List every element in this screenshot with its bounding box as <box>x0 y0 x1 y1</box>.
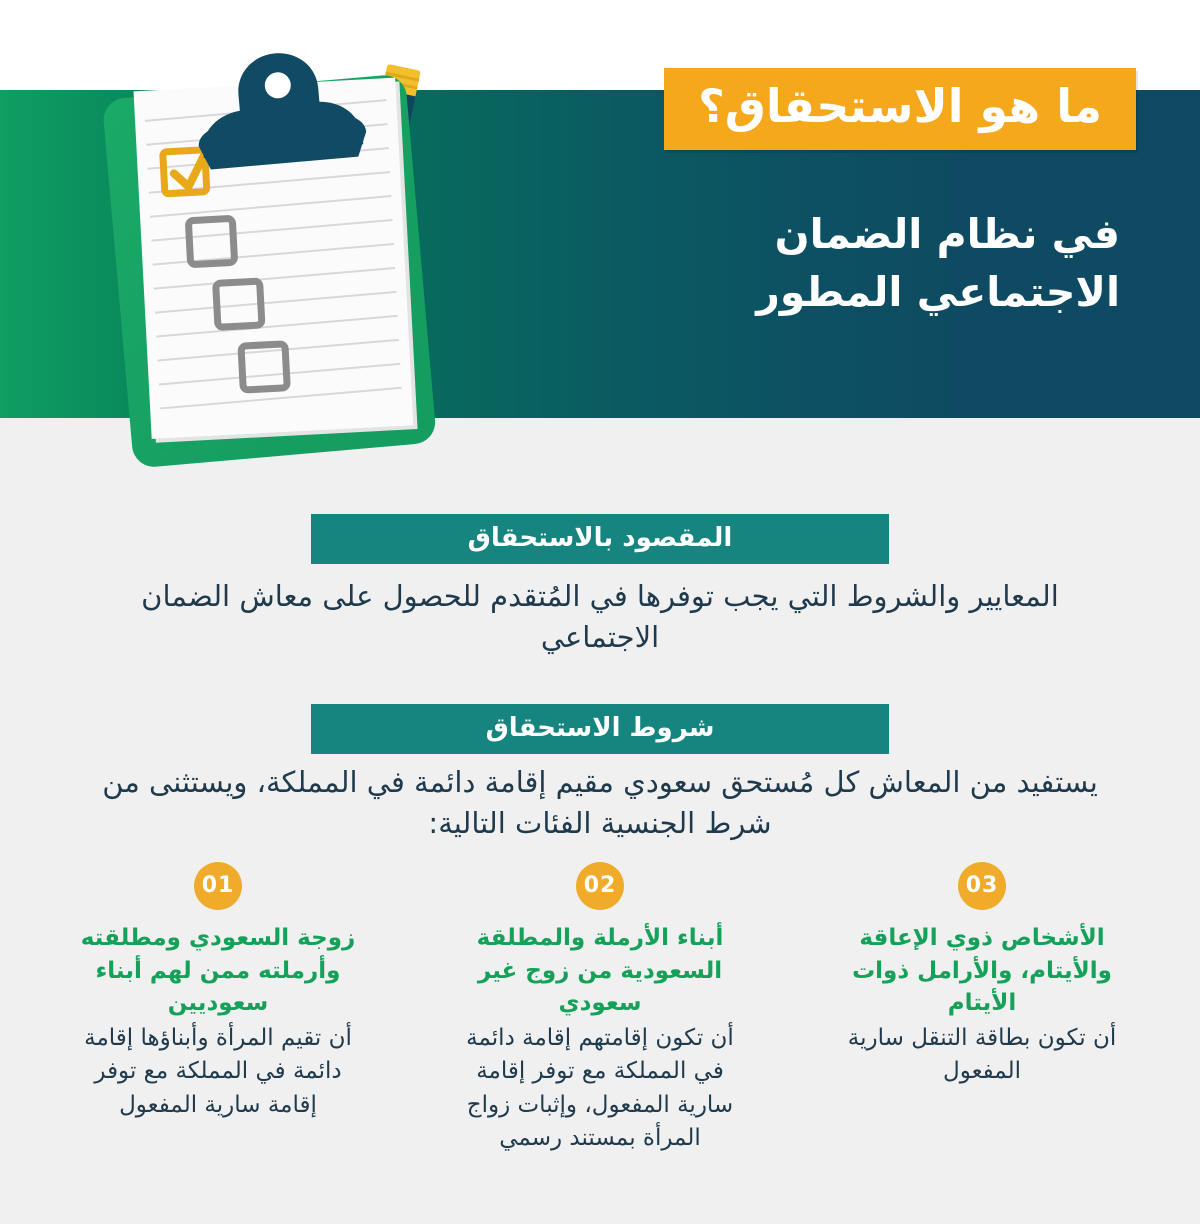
condition-number-badge: 03 <box>958 862 1006 910</box>
condition-body: أن تقيم المرأة وأبناؤها إقامة دائمة في ا… <box>70 1022 366 1122</box>
condition-number-badge: 02 <box>576 862 624 910</box>
section-heading-conditions: شروط الاستحقاق <box>311 704 889 754</box>
condition-column-01: 01 زوجة السعودي ومطلقته وأرملته ممن لهم … <box>70 862 366 1122</box>
condition-title: أبناء الأرملة والمطلقة السعودية من زوج غ… <box>452 922 748 1020</box>
condition-column-03: 03 الأشخاص ذوي الإعاقة والأيتام، والأرام… <box>834 862 1130 1089</box>
hero-subtitle: في نظام الضمان الاجتماعي المطور <box>590 205 1120 321</box>
conditions-columns: 03 الأشخاص ذوي الإعاقة والأيتام، والأرام… <box>70 862 1130 1155</box>
condition-number-badge: 01 <box>194 862 242 910</box>
section-body-conditions: يستفيد من المعاش كل مُستحق سعودي مقيم إق… <box>90 762 1110 844</box>
clipboard-checklist-icon <box>70 28 490 498</box>
hero-title-banner: ما هو الاستحقاق؟ <box>664 68 1136 150</box>
section-heading-definition: المقصود بالاستحقاق <box>311 514 889 564</box>
section-body-definition: المعايير والشروط التي يجب توفرها في المُ… <box>90 576 1110 658</box>
condition-body: أن تكون بطاقة التنقل سارية المفعول <box>834 1022 1130 1089</box>
condition-column-02: 02 أبناء الأرملة والمطلقة السعودية من زو… <box>452 862 748 1155</box>
condition-body: أن تكون إقامتهم إقامة دائمة في المملكة م… <box>452 1022 748 1155</box>
page-title: ما هو الاستحقاق؟ <box>698 82 1102 130</box>
infographic-page: ما هو الاستحقاق؟ في نظام الضمان الاجتماع… <box>0 0 1200 1224</box>
condition-title: الأشخاص ذوي الإعاقة والأيتام، والأرامل ذ… <box>834 922 1130 1020</box>
condition-title: زوجة السعودي ومطلقته وأرملته ممن لهم أبن… <box>70 922 366 1020</box>
